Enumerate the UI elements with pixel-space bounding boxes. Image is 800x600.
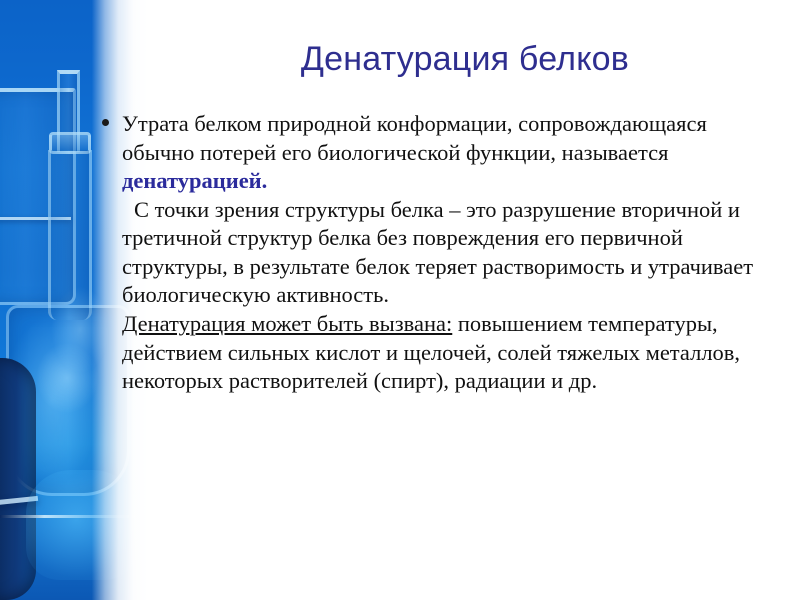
bullet-icon [102,119,109,126]
slide: Денатурация белков Утрата белком природн… [0,0,800,600]
page-title: Денатурация белков [150,40,780,79]
paragraph-3-underlined-lead: Денатурация может быть вызвана: [122,311,452,336]
paragraph-1-lead-text: Утрата белком природной конформации, соп… [122,111,707,165]
slide-body: Утрата белком природной конформации, соп… [100,110,784,396]
paragraph-2: С точки зрения структуры белка – это раз… [100,196,784,310]
bullet-paragraph-1: Утрата белком природной конформации, соп… [100,110,784,196]
paragraph-1-accent-term: денатурацией. [122,168,267,193]
paragraph-3: Денатурация может быть вызвана: повышени… [100,310,784,396]
paragraph-2-text: С точки зрения структуры белка – это раз… [122,197,753,308]
